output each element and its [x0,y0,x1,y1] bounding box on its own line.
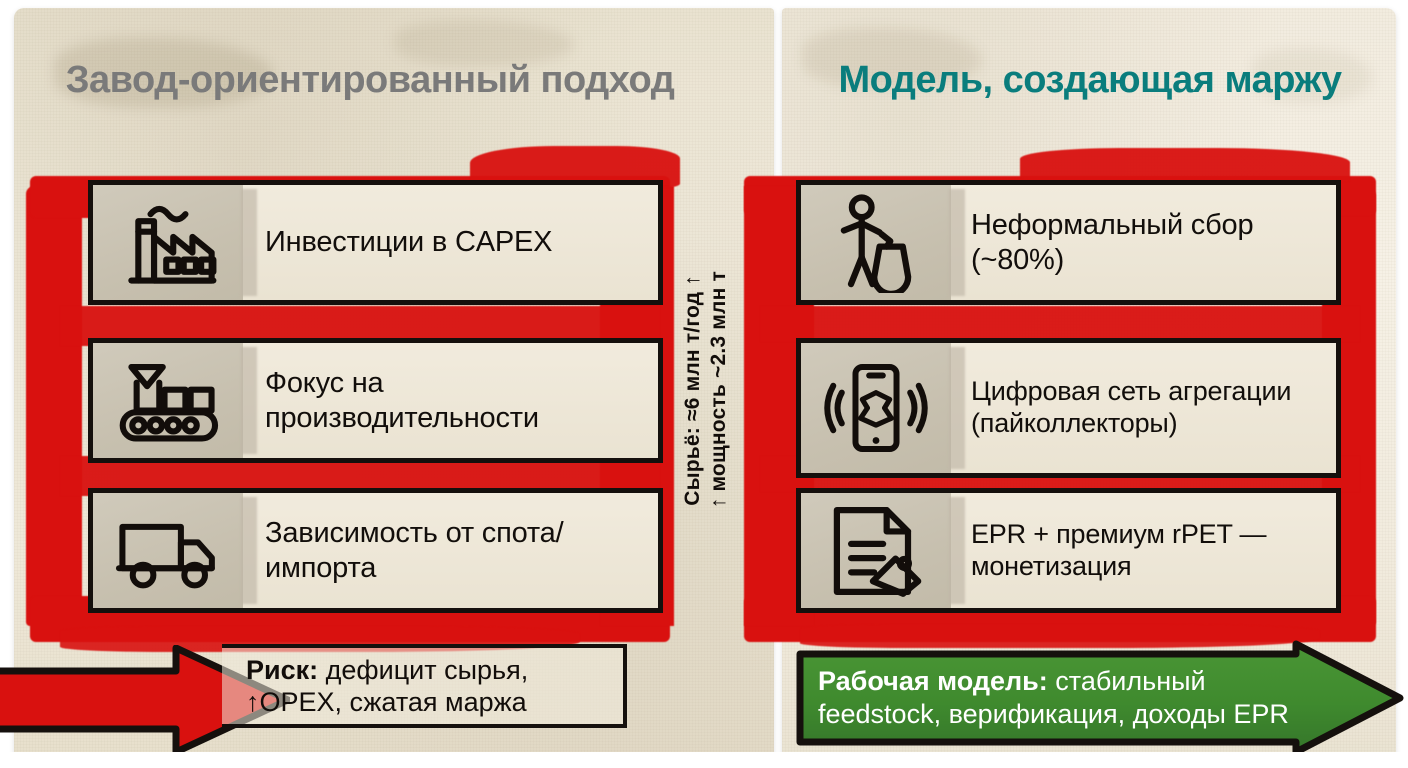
spine-line-2: ↑ мощность ~2.3 млн т [707,271,731,508]
card-right-2[interactable]: Цифровая сеть агрегации (пайколлекторы) [796,338,1341,478]
card-right-2-tile [801,343,951,473]
page-title-right: Модель, создающая маржу [800,60,1380,102]
factory-icon [114,195,222,291]
person-with-bag-icon [828,193,924,293]
truck-icon [113,508,223,594]
card-left-3-tile [93,493,243,608]
card-right-2-label: Цифровая сеть агрегации (пайколлекторы) [951,343,1336,473]
working-lead: Рабочая модель: [818,666,1048,696]
card-left-3[interactable]: Зависимость от спота/импорта [88,488,663,613]
red-brush-accent-top-right [1020,148,1350,184]
risk-lead: Риск: [246,655,318,685]
page-title-left: Завод-ориентированный подход [60,60,680,102]
card-right-3-label: EPR + премиум rPET — монетизация [951,493,1336,608]
bottom-white-strip [0,752,1408,768]
conveyor-belt-icon [114,356,222,446]
card-left-2-tile [93,343,243,458]
card-left-1[interactable]: Инвестиции в CAPEX [88,180,663,305]
card-right-1[interactable]: Неформальный сбор (~80%) [796,180,1341,305]
red-brush-left-slab [26,186,82,626]
card-left-2-label: Фокус на производительности [243,343,658,458]
spine-line-1: Сырьё: ≈6 млн т/год ↑ [681,275,705,506]
document-tag-icon [823,503,929,599]
phone-signal-icon [823,358,929,458]
infographic-canvas: Завод-ориентированный подход Модель, соз… [0,0,1408,768]
card-left-1-tile [93,185,243,300]
card-left-2[interactable]: Фокус на производительности [88,338,663,463]
working-model-banner: Рабочая модель: стабильный feedstock, ве… [818,652,1298,744]
card-right-1-label: Неформальный сбор (~80%) [951,185,1336,300]
card-left-1-label: Инвестиции в CAPEX [243,185,658,300]
card-right-1-tile [801,185,951,300]
red-brush-right-gap1 [760,306,1360,342]
card-right-3[interactable]: EPR + премиум rPET — монетизация [796,488,1341,613]
card-left-3-label: Зависимость от спота/импорта [243,493,658,608]
spine-annotation: Сырьё: ≈6 млн т/год ↑ ↑ мощность ~2.3 мл… [664,225,748,555]
risk-banner: Риск: дефицит сырья, ↑OPEX, сжатая маржа [222,644,627,728]
card-right-3-tile [801,493,951,608]
